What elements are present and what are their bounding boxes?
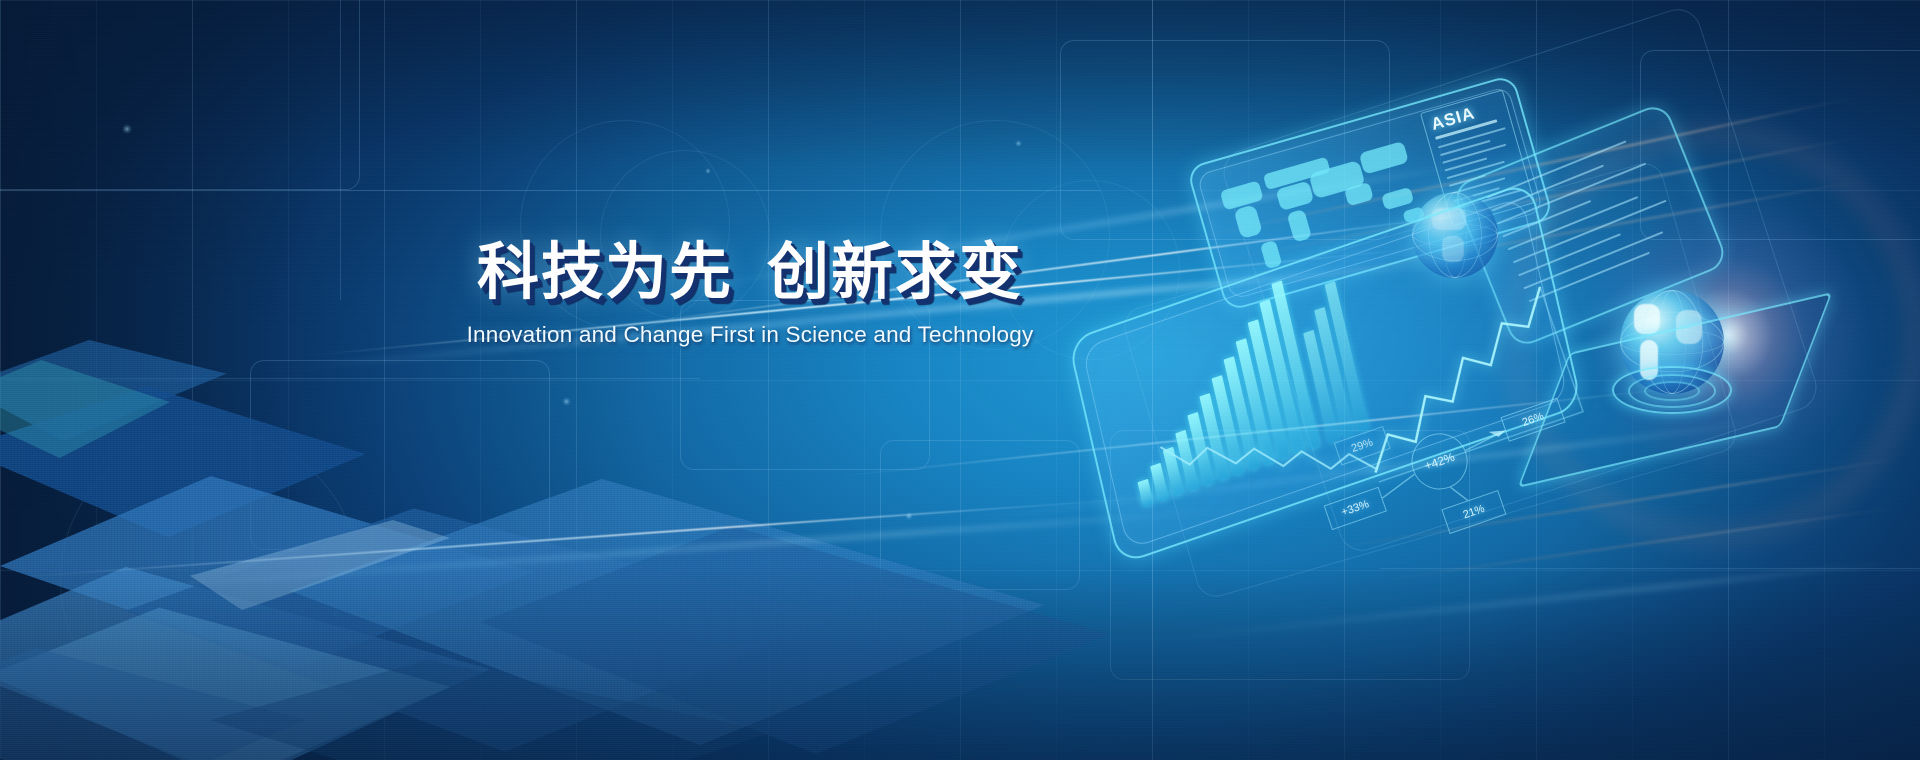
headline-part-1: 科技为先 [477,238,733,307]
banner-root: ASIA [0,0,1920,760]
page-title: 科技为先创新求变 [390,240,1110,306]
page-subtitle: Innovation and Change First in Science a… [390,322,1110,348]
banner-copy: 科技为先创新求变 Innovation and Change First in … [390,240,1110,348]
geometric-blocks [0,340,1140,760]
headline-part-2: 创新求变 [767,238,1023,307]
tech-hologram-cluster: ASIA [1020,0,1920,700]
